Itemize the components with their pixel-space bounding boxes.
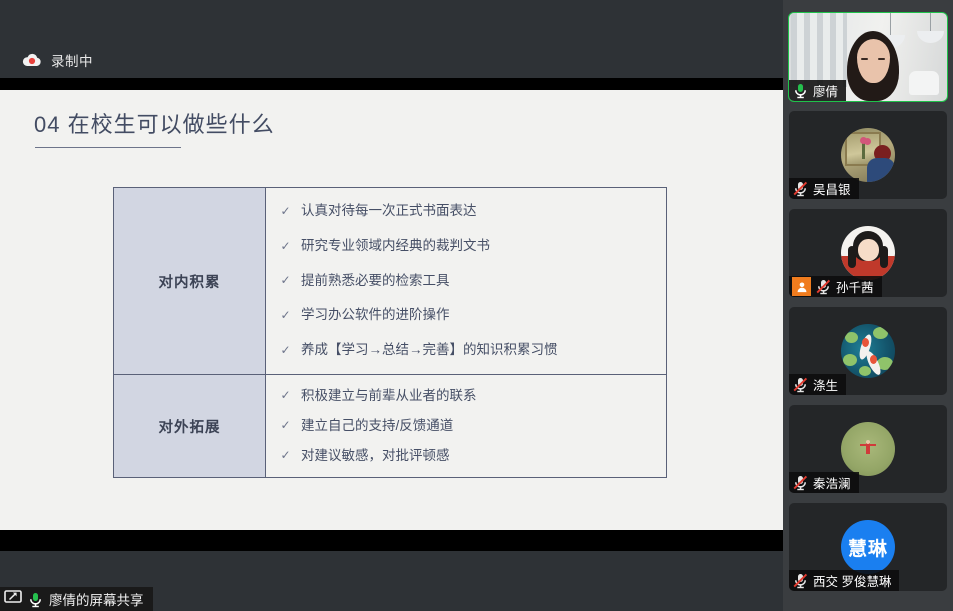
list-item-text: 研究专业领域内经典的裁判文书 [301,239,490,254]
section-items-1: ✓ 认真对待每一次正式书面表达 ✓ 研究专业领域内经典的裁判文书 ✓ 提前熟悉必… [266,188,666,374]
microphone-muted-icon [792,376,809,393]
recording-bar: 录制中 [0,0,783,78]
list-item: ✓ 建立自己的支持/反馈通道 [280,419,666,434]
check-icon: ✓ [280,309,291,322]
letterbox-top [0,78,783,90]
participant-tile-sun-qian-qian[interactable]: 孙千茜 [789,209,947,297]
participant-tile-di-sheng[interactable]: 涤生 [789,307,947,395]
list-item: ✓ 积极建立与前辈从业者的联系 [280,389,666,404]
list-item-text: 提前熟悉必要的检索工具 [301,274,450,289]
cloud-recording-icon [22,53,42,67]
check-icon: ✓ [280,205,291,218]
list-item: ✓ 研究专业领域内经典的裁判文书 [280,239,666,254]
microphone-muted-icon [792,572,809,589]
presentation-slide: 04 在校生可以做些什么 对内积累 ✓ 认真对待每一次正式书面表达 ✓ 研究专业… [0,90,783,530]
screen-share-label: 廖倩的屏幕共享 [49,589,144,609]
participant-tile-xijiao-luojun-huilin[interactable]: 慧琳 西交 罗俊慧琳 [789,503,947,591]
participant-name: 吴昌银 [813,179,851,198]
list-item-text: 建立自己的支持/反馈通道 [301,419,453,434]
check-icon: ✓ [280,389,291,402]
table-row: 对外拓展 ✓ 积极建立与前辈从业者的联系 ✓ 建立自己的支持/反馈通道 ✓ 对建 [114,375,666,477]
title-underline [35,147,181,148]
list-item: ✓ 学习办公软件的进阶操作 [280,308,666,323]
share-footer: 廖倩的屏幕共享 [0,551,783,611]
microphone-muted-icon [792,474,809,491]
check-icon: ✓ [280,449,291,462]
avatar-initials: 慧琳 [848,534,888,561]
list-item-text: 认真对待每一次正式书面表达 [301,204,477,219]
participant-tile-wu-chang-yin[interactable]: 吴昌银 [789,111,947,199]
microphone-muted-icon [792,180,809,197]
section-items-2: ✓ 积极建立与前辈从业者的联系 ✓ 建立自己的支持/反馈通道 ✓ 对建议敏感，对… [266,375,666,477]
list-item-text: 积极建立与前辈从业者的联系 [301,389,477,404]
shared-screen-region: 录制中 04 在校生可以做些什么 对内积累 ✓ 认真对待每一次正式书面表达 [0,0,783,611]
table-row: 对内积累 ✓ 认真对待每一次正式书面表达 ✓ 研究专业领域内经典的裁判文书 ✓ [114,188,666,375]
list-item-text: 养成【学习→总结→完善】的知识积累习惯 [301,343,558,358]
participant-name: 孙千茜 [836,277,874,296]
participant-name: 涤生 [813,375,838,394]
avatar [841,128,895,182]
participant-nameplate: 涤生 [789,374,846,395]
microphone-on-icon [792,82,809,99]
slide-title: 04 在校生可以做些什么 [34,107,275,139]
participant-name: 秦浩澜 [813,473,851,492]
screen-share-status: 廖倩的屏幕共享 [0,587,153,611]
list-item: ✓ 提前熟悉必要的检索工具 [280,274,666,289]
check-icon: ✓ [280,344,291,357]
avatar [841,226,895,280]
list-item-text: 对建议敏感，对批评顿感 [301,449,450,464]
list-item: ✓ 养成【学习→总结→完善】的知识积累习惯 [280,343,666,358]
participant-strip[interactable]: 廖倩 [783,0,953,611]
microphone-muted-icon [815,278,832,295]
host-icon [792,277,811,296]
participant-name: 西交 罗俊慧琳 [813,571,891,590]
screen-share-icon [4,589,22,610]
section-heading-2: 对外拓展 [114,375,266,477]
check-icon: ✓ [280,274,291,287]
list-item-text: 学习办公软件的进阶操作 [301,308,450,323]
participant-nameplate: 西交 罗俊慧琳 [789,570,899,591]
list-item: ✓ 对建议敏感，对批评顿感 [280,449,666,464]
meeting-window: 录制中 04 在校生可以做些什么 对内积累 ✓ 认真对待每一次正式书面表达 [0,0,953,611]
check-icon: ✓ [280,240,291,253]
list-item: ✓ 认真对待每一次正式书面表达 [280,204,666,219]
participant-nameplate: 孙千茜 [789,276,882,297]
participant-tile-liao-qian[interactable]: 廖倩 [789,13,947,101]
content-table: 对内积累 ✓ 认真对待每一次正式书面表达 ✓ 研究专业领域内经典的裁判文书 ✓ [113,187,667,478]
avatar [841,422,895,476]
section-heading-1: 对内积累 [114,188,266,374]
participant-nameplate: 廖倩 [789,80,846,101]
avatar: 慧琳 [841,520,895,574]
participant-nameplate: 吴昌银 [789,178,859,199]
microphone-on-icon [27,591,44,608]
check-icon: ✓ [280,419,291,432]
recording-label: 录制中 [51,50,93,70]
participant-nameplate: 秦浩澜 [789,472,859,493]
letterbox-bottom [0,530,783,551]
participant-name: 廖倩 [813,81,838,100]
avatar [841,324,895,378]
participant-tile-qin-hao-lan[interactable]: 秦浩澜 [789,405,947,493]
